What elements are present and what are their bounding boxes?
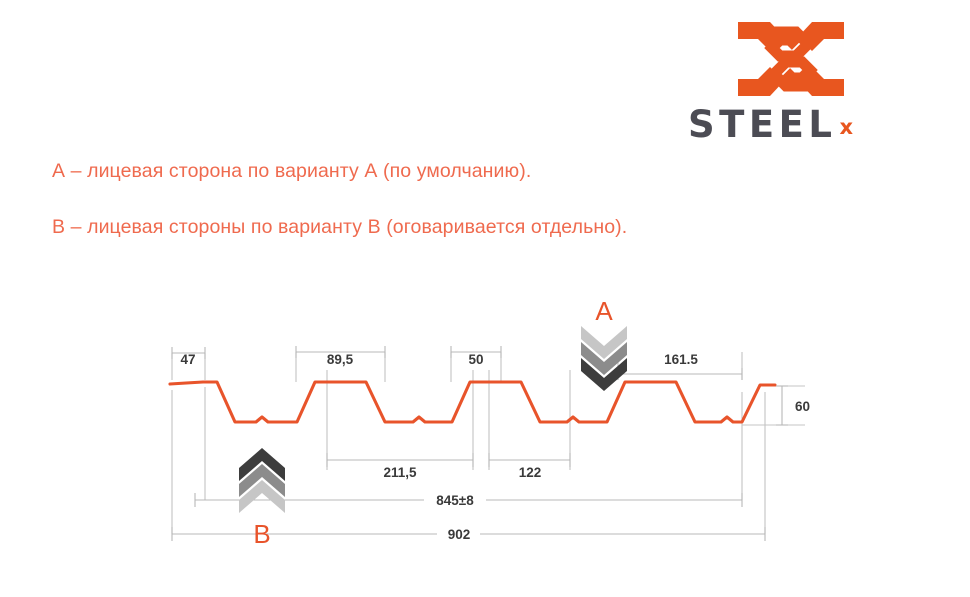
dim-122-label: 122 <box>519 465 542 480</box>
dim-902-label: 902 <box>448 527 471 542</box>
dim-89-5-label: 89,5 <box>327 352 354 367</box>
profile-technical-drawing: 47 89,5 50 161.5 60 <box>0 0 970 597</box>
dim-211-5: 211,5 <box>327 453 473 480</box>
dim-845-label: 845±8 <box>436 493 474 508</box>
dim-47: 47 <box>172 347 205 367</box>
dim-50-label: 50 <box>468 352 483 367</box>
dim-47-label: 47 <box>180 352 195 367</box>
top-dimension-row: 47 89,5 50 161.5 <box>172 346 742 380</box>
dim-161-5: 161.5 <box>618 352 742 380</box>
marker-b-label: B <box>253 519 270 549</box>
dim-50: 50 <box>451 346 501 367</box>
dim-60-label: 60 <box>795 399 810 414</box>
extension-lines <box>172 352 805 534</box>
marker-a: A <box>581 296 627 391</box>
middle-dimension-row: 211,5 122 <box>327 453 570 480</box>
dim-89-5: 89,5 <box>296 346 385 367</box>
marker-a-chevron-icon <box>581 326 627 391</box>
dim-122: 122 <box>489 453 570 480</box>
dim-60: 60 <box>776 386 810 425</box>
dim-161-5-label: 161.5 <box>664 352 698 367</box>
marker-a-label: A <box>595 296 613 326</box>
marker-b-chevron-icon <box>239 448 285 513</box>
dim-211-5-label: 211,5 <box>383 465 417 480</box>
